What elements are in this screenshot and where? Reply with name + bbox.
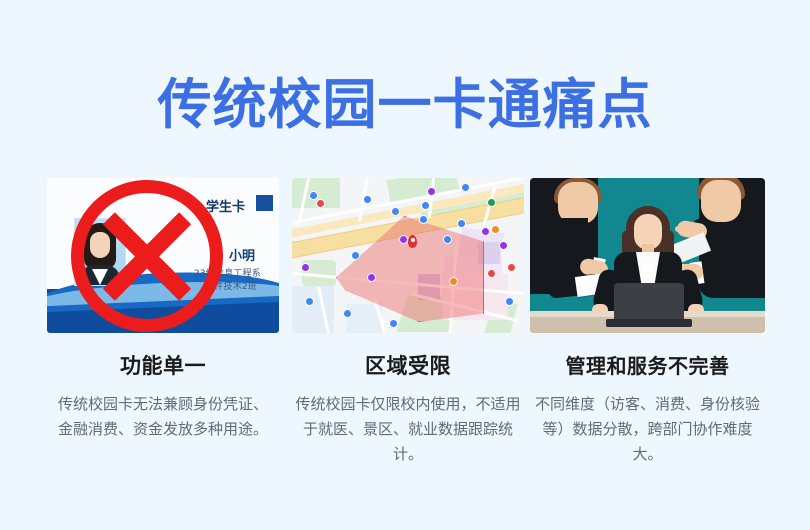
office-illustration-thumbnail[interactable] [530,178,765,333]
poi-dot-icon[interactable] [310,192,317,199]
map-thumbnail[interactable] [292,178,524,333]
column-area-limited: 区域受限 传统校园卡仅限校内使用，不适用于就医、景区、就业数据跟踪统计。 [292,178,524,467]
poi-dot-icon[interactable] [462,184,469,191]
poi-dot-icon[interactable] [317,200,324,207]
poi-dot-icon[interactable] [488,270,495,277]
poi-dot-icon[interactable] [422,202,429,209]
laptop-icon [614,283,684,321]
student-card-thumbnail[interactable]: 学生卡 小明 23级信息工程系 软件技术2班 [47,178,279,333]
poi-dot-icon[interactable] [344,310,351,317]
poi-dot-icon[interactable] [444,236,451,243]
poi-dot-icon[interactable] [450,278,457,285]
poi-dot-icon[interactable] [508,264,515,271]
column-management-service: 管理和服务不完善 不同维度（访客、消费、身份核验等）数据分散，跨部门协作难度大。 [530,178,765,467]
student-name-label: 小明 [229,245,255,264]
left-colleague-neck [556,218,588,234]
column-body-text: 传统校园卡仅限校内使用，不适用于就医、景区、就业数据跟踪统计。 [292,392,524,467]
poi-dot-icon[interactable] [390,320,397,327]
right-colleague-head [701,180,741,222]
poi-dot-icon[interactable] [488,199,495,206]
poi-dot-icon[interactable] [500,242,507,249]
location-pin-icon[interactable] [408,235,417,248]
column-body-text: 不同维度（访客、消费、身份核验等）数据分散，跨部门协作难度大。 [530,392,765,467]
poi-dot-icon[interactable] [458,220,465,227]
poi-dot-icon[interactable] [428,188,435,195]
poi-dot-icon[interactable] [400,236,407,243]
card-title-label: 学生卡 [206,196,245,215]
poi-dot-icon[interactable] [392,208,399,215]
feature-columns: 学生卡 小明 23级信息工程系 软件技术2班 功能单一 传统校园卡无法兼顾身份凭… [0,178,810,498]
column-function-single: 学生卡 小明 23级信息工程系 软件技术2班 功能单一 传统校园卡无法兼顾身份凭… [47,178,279,442]
poi-dot-icon[interactable] [306,298,313,305]
column-heading: 区域受限 [292,353,524,379]
campus-map [292,178,524,333]
poi-dot-icon[interactable] [506,298,513,305]
office-illustration [530,178,765,333]
poi-dot-icon[interactable] [492,226,499,233]
poi-dot-icon[interactable] [352,252,359,259]
right-colleague-finger [675,226,687,232]
poi-dot-icon[interactable] [368,274,375,281]
page-title: 传统校园一卡通痛点 [0,76,810,134]
poi-dot-icon[interactable] [482,228,489,235]
poi-dot-icon[interactable] [420,216,427,223]
poi-dot-icon[interactable] [364,196,371,203]
column-heading: 管理和服务不完善 [530,353,765,379]
column-body-text: 传统校园卡无法兼顾身份凭证、金融消费、资金发放多种用途。 [47,392,279,442]
slide-root: 传统校园一卡通痛点 学生卡 小明 23级信息工程系 [0,0,810,530]
column-heading: 功能单一 [47,353,279,379]
red-x-prohibition-icon [71,180,223,332]
card-badge-icon [256,195,273,211]
poi-dot-icon[interactable] [302,264,309,271]
